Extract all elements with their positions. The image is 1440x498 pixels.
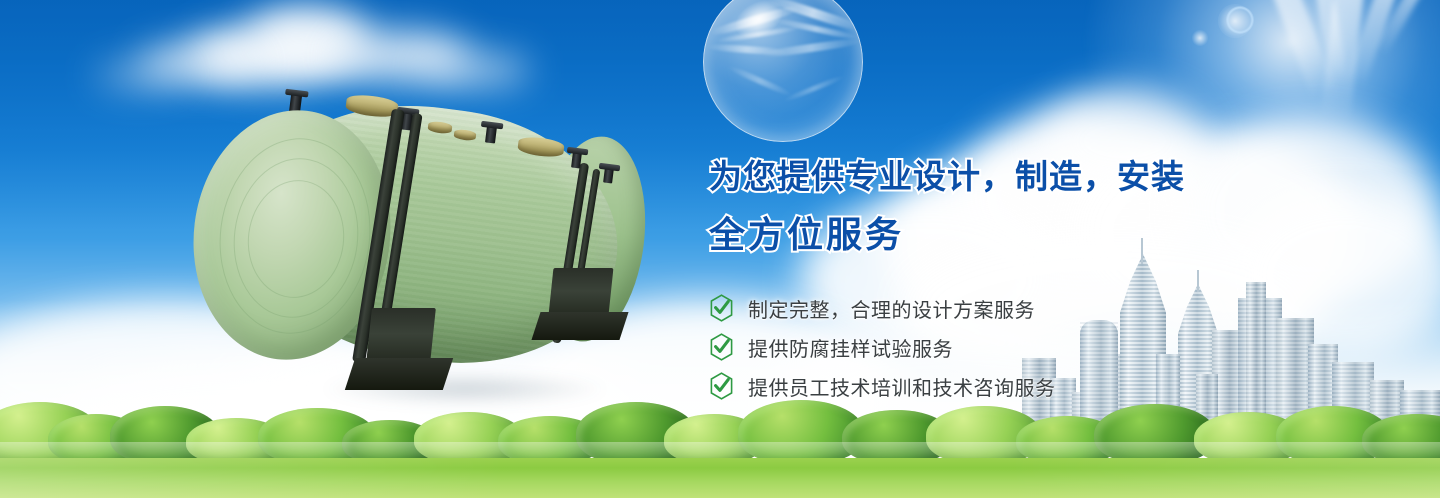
list-item: 提供防腐挂样试验服务 bbox=[709, 328, 1269, 366]
headline-primary: 为您提供专业设计，制造，安装 bbox=[709, 160, 1269, 193]
list-item: 制定完整，合理的设计方案服务 bbox=[709, 289, 1269, 327]
list-item-label: 提供员工技术培训和技术咨询服务 bbox=[748, 372, 1056, 401]
banner-copy: 为您提供专业设计，制造，安装 全方位服务 制定完整，合理的设计方案服务 bbox=[709, 160, 1269, 406]
tank-saddle-support bbox=[345, 358, 453, 390]
promo-banner: 为您提供专业设计，制造，安装 全方位服务 制定完整，合理的设计方案服务 bbox=[0, 0, 1440, 498]
list-item-label: 提供防腐挂样试验服务 bbox=[748, 333, 953, 362]
headline-secondary: 全方位服务 bbox=[709, 217, 1269, 253]
tank-saddle-support bbox=[531, 312, 628, 340]
feature-list: 制定完整，合理的设计方案服务 提供防腐挂样试验服务 bbox=[709, 289, 1269, 405]
hexagon-check-icon bbox=[709, 333, 734, 361]
frp-storage-tank-image bbox=[150, 80, 690, 420]
grass-field bbox=[0, 458, 1440, 498]
hexagon-check-icon bbox=[709, 294, 734, 322]
list-item-label: 制定完整，合理的设计方案服务 bbox=[748, 294, 1035, 323]
hexagon-check-icon bbox=[709, 372, 734, 400]
list-item: 提供员工技术培训和技术咨询服务 bbox=[709, 367, 1269, 405]
